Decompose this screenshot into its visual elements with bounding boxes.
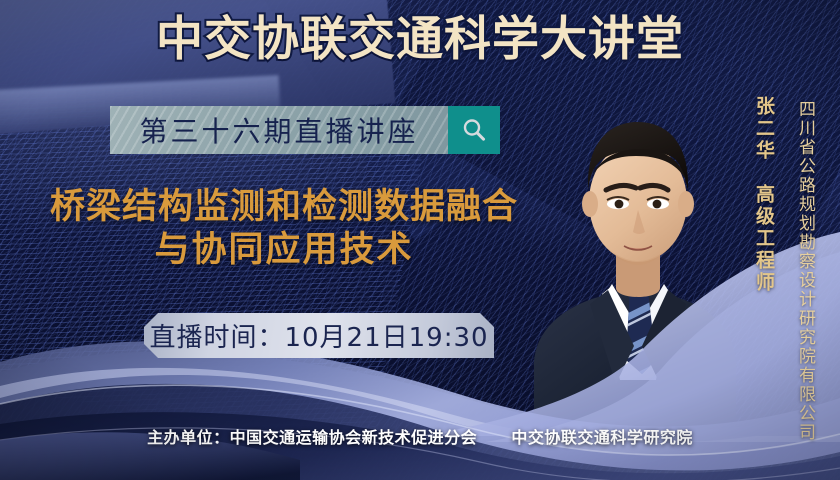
live-time-text: 直播时间：10月21日19:30 [149,317,488,354]
search-icon-glyph [461,117,487,143]
lecture-title: 桥梁结构监测和检测数据融合 与协同应用技术 [24,186,544,271]
search-icon[interactable] [448,106,500,154]
episode-label: 第三十六期直播讲座 [139,110,418,150]
lecture-title-line1: 桥梁结构监测和检测数据融合 [24,186,544,229]
lecture-title-line2: 与协同应用技术 [24,229,544,272]
footer-organizer-secondary: 中交协联交通科学研究院 [511,428,693,447]
speaker-organization-vertical: 四川省公路规划勘察设计研究院有限公司 [793,100,818,442]
live-time-badge: 直播时间：10月21日19:30 [144,313,494,358]
episode-search-bar[interactable]: 第三十六期直播讲座 [110,106,500,154]
episode-search-field[interactable]: 第三十六期直播讲座 [110,106,448,154]
footer-organizer-primary: 主办单位：中国交通运输协会新技术促进分会 [147,428,477,447]
main-title: 中交协联交通科学大讲堂 [0,16,840,63]
speaker-name-vertical: 张二华 高级工程师 [751,96,778,294]
webinar-poster: 中交协联交通科学大讲堂 第三十六期直播讲座 桥梁结构监测和检测数据融合 与协同应… [0,0,840,480]
footer-organizers: 主办单位：中国交通运输协会新技术促进分会 中交协联交通科学研究院 [0,424,840,448]
